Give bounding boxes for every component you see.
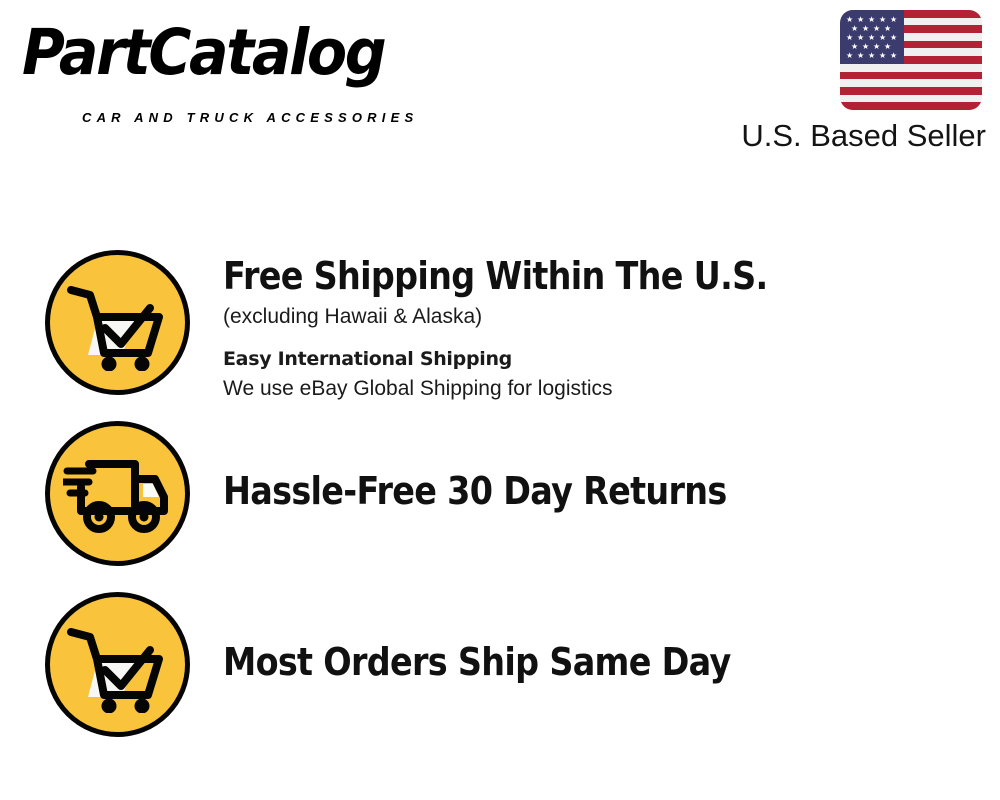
shopping-cart-check-icon <box>45 592 190 737</box>
benefit-subtext-strong: Easy International Shipping <box>223 344 963 374</box>
flag-stripe <box>840 95 982 103</box>
flag-stripe <box>840 64 982 72</box>
us-based-seller-label: U.S. Based Seller <box>724 118 986 154</box>
brand-wordmark: PartCatalog <box>22 16 384 89</box>
flag-stripe <box>840 102 982 110</box>
benefit-row: Free Shipping Within The U.S. (excluding… <box>0 250 1000 410</box>
benefit-row: Hassle-Free 30 Day Returns <box>0 421 1000 571</box>
brand-tagline: CAR AND TRUCK ACCESSORIES <box>82 110 418 125</box>
benefit-headline: Hassle-Free 30 Day Returns <box>223 469 874 513</box>
benefit-text-block: Hassle-Free 30 Day Returns <box>223 469 963 513</box>
flag-stripe <box>840 87 982 95</box>
benefit-subtext: (excluding Hawaii & Alaska) <box>223 302 963 332</box>
benefit-text-block: Most Orders Ship Same Day <box>223 640 963 684</box>
flag-stripe <box>840 79 982 87</box>
benefit-subtext: We use eBay Global Shipping for logistic… <box>223 374 963 404</box>
benefit-headline: Most Orders Ship Same Day <box>223 640 874 684</box>
shopping-cart-check-icon <box>45 250 190 395</box>
brand-logo[interactable]: PartCatalog CAR AND TRUCK ACCESSORIES <box>22 22 492 117</box>
us-flag-icon: ★ ★ ★ ★ ★ ★ ★ ★ ★ ★ ★ ★ ★ ★ ★ ★ ★ ★ ★ ★ … <box>840 10 982 110</box>
benefit-headline: Free Shipping Within The U.S. <box>223 254 874 298</box>
delivery-truck-icon <box>45 421 190 566</box>
benefit-row: Most Orders Ship Same Day <box>0 592 1000 742</box>
page-header: PartCatalog CAR AND TRUCK ACCESSORIES ★ … <box>0 0 1000 170</box>
flag-canton: ★ ★ ★ ★ ★ ★ ★ ★ ★ ★ ★ ★ ★ ★ ★ ★ ★ ★ ★ ★ … <box>840 10 904 64</box>
flag-stripe <box>840 72 982 80</box>
benefit-text-block: Free Shipping Within The U.S. (excluding… <box>223 254 963 404</box>
